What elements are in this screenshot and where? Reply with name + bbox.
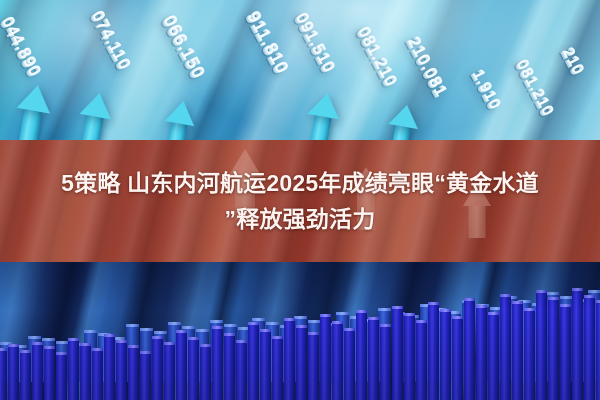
chart-bar	[224, 333, 235, 400]
chart-bar	[128, 345, 139, 400]
chart-bar	[200, 344, 211, 400]
chart-bar	[20, 350, 31, 400]
chart-bar	[380, 324, 391, 400]
headline-line-1: 5策略 山东内河航运2025年成绩亮眼“黄金水道	[61, 166, 539, 200]
headline: 5策略 山东内河航运2025年成绩亮眼“黄金水道 ”释放强劲活力	[0, 140, 600, 262]
chart-bar	[476, 305, 487, 400]
chart-bar	[140, 351, 151, 400]
chart-bar	[296, 325, 307, 400]
chart-bar	[548, 297, 559, 400]
chart-bar	[116, 340, 127, 400]
chart-bar	[512, 301, 523, 400]
chart-bar	[584, 295, 595, 400]
arrow-head	[388, 102, 421, 129]
chart-bar	[260, 329, 271, 400]
chart-bar	[344, 328, 355, 400]
chart-bar	[8, 344, 19, 400]
chart-bar	[176, 330, 187, 400]
arrow-head	[165, 98, 199, 126]
chart-bar	[392, 306, 403, 400]
chart-bar	[596, 300, 600, 400]
chart-bar	[248, 322, 259, 400]
chart-bar	[416, 320, 427, 400]
arrow-head	[80, 90, 116, 119]
chart-bar	[56, 352, 67, 400]
chart-bar	[368, 317, 379, 400]
arrow-head	[308, 90, 344, 119]
chart-bar	[524, 308, 535, 400]
chart-bar	[32, 342, 43, 400]
chart-bar	[440, 309, 451, 400]
headline-line-2: ”释放强劲活力	[225, 202, 376, 236]
chart-bar	[404, 313, 415, 400]
chart-bar	[464, 298, 475, 400]
chart-bar	[164, 342, 175, 400]
chart-bar	[188, 337, 199, 400]
chart-bar	[572, 288, 583, 400]
chart-bar	[68, 338, 79, 400]
banner-image: 044.890074.110066.150911.810091.510081.2…	[0, 0, 600, 400]
chart-bar	[212, 326, 223, 400]
chart-bar	[80, 343, 91, 400]
arrow-head	[17, 82, 55, 114]
chart-bar	[104, 334, 115, 400]
chart-bar	[560, 304, 571, 400]
chart-bar	[92, 348, 103, 400]
chart-bar	[320, 314, 331, 400]
bottom-scene	[0, 261, 600, 400]
chart-bar	[152, 336, 163, 400]
chart-bar	[428, 302, 439, 400]
chart-bar	[0, 348, 7, 400]
chart-bar	[452, 316, 463, 400]
chart-bar	[44, 346, 55, 400]
chart-bar	[284, 318, 295, 400]
chart-bar	[236, 340, 247, 400]
chart-bar	[272, 336, 283, 400]
chart-bar	[332, 321, 343, 400]
chart-bar	[500, 294, 511, 400]
chart-bar	[356, 310, 367, 400]
chart-bar	[308, 332, 319, 400]
chart-bar	[488, 312, 499, 400]
chart-bar	[536, 290, 547, 400]
title-band: 5策略 山东内河航运2025年成绩亮眼“黄金水道 ”释放强劲活力	[0, 140, 600, 262]
